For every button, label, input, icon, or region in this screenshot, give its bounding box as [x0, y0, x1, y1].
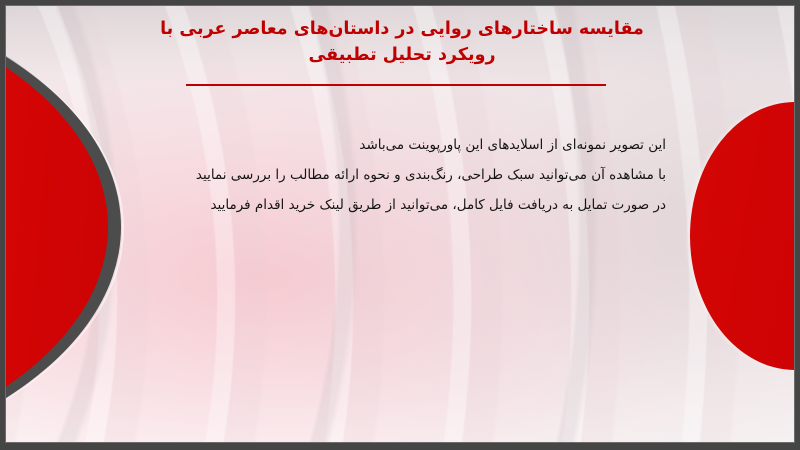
- slide-title-line-1: مقایسه ساختارهای روایی در داستان‌های معا…: [102, 16, 702, 42]
- slide-canvas: مقایسه ساختارهای روایی در داستان‌های معا…: [6, 6, 794, 442]
- slide-frame: مقایسه ساختارهای روایی در داستان‌های معا…: [0, 0, 800, 450]
- slide-body: این تصویر نمونه‌ای از اسلایدهای این پاور…: [146, 130, 666, 220]
- slide-body-line-2: با مشاهده آن می‌توانید سبک طراحی، رنگ‌بن…: [146, 160, 666, 190]
- slide-body-line-3: در صورت تمایل به دریافت فایل کامل، می‌تو…: [146, 190, 666, 220]
- background-stripes-secondary: [6, 6, 794, 442]
- slide-body-line-1: این تصویر نمونه‌ای از اسلایدهای این پاور…: [146, 130, 666, 160]
- slide-title-line-2: رویکرد تحلیل تطبیقی: [102, 42, 702, 68]
- slide-title: مقایسه ساختارهای روایی در داستان‌های معا…: [102, 16, 702, 68]
- title-underline-rule: [186, 84, 606, 86]
